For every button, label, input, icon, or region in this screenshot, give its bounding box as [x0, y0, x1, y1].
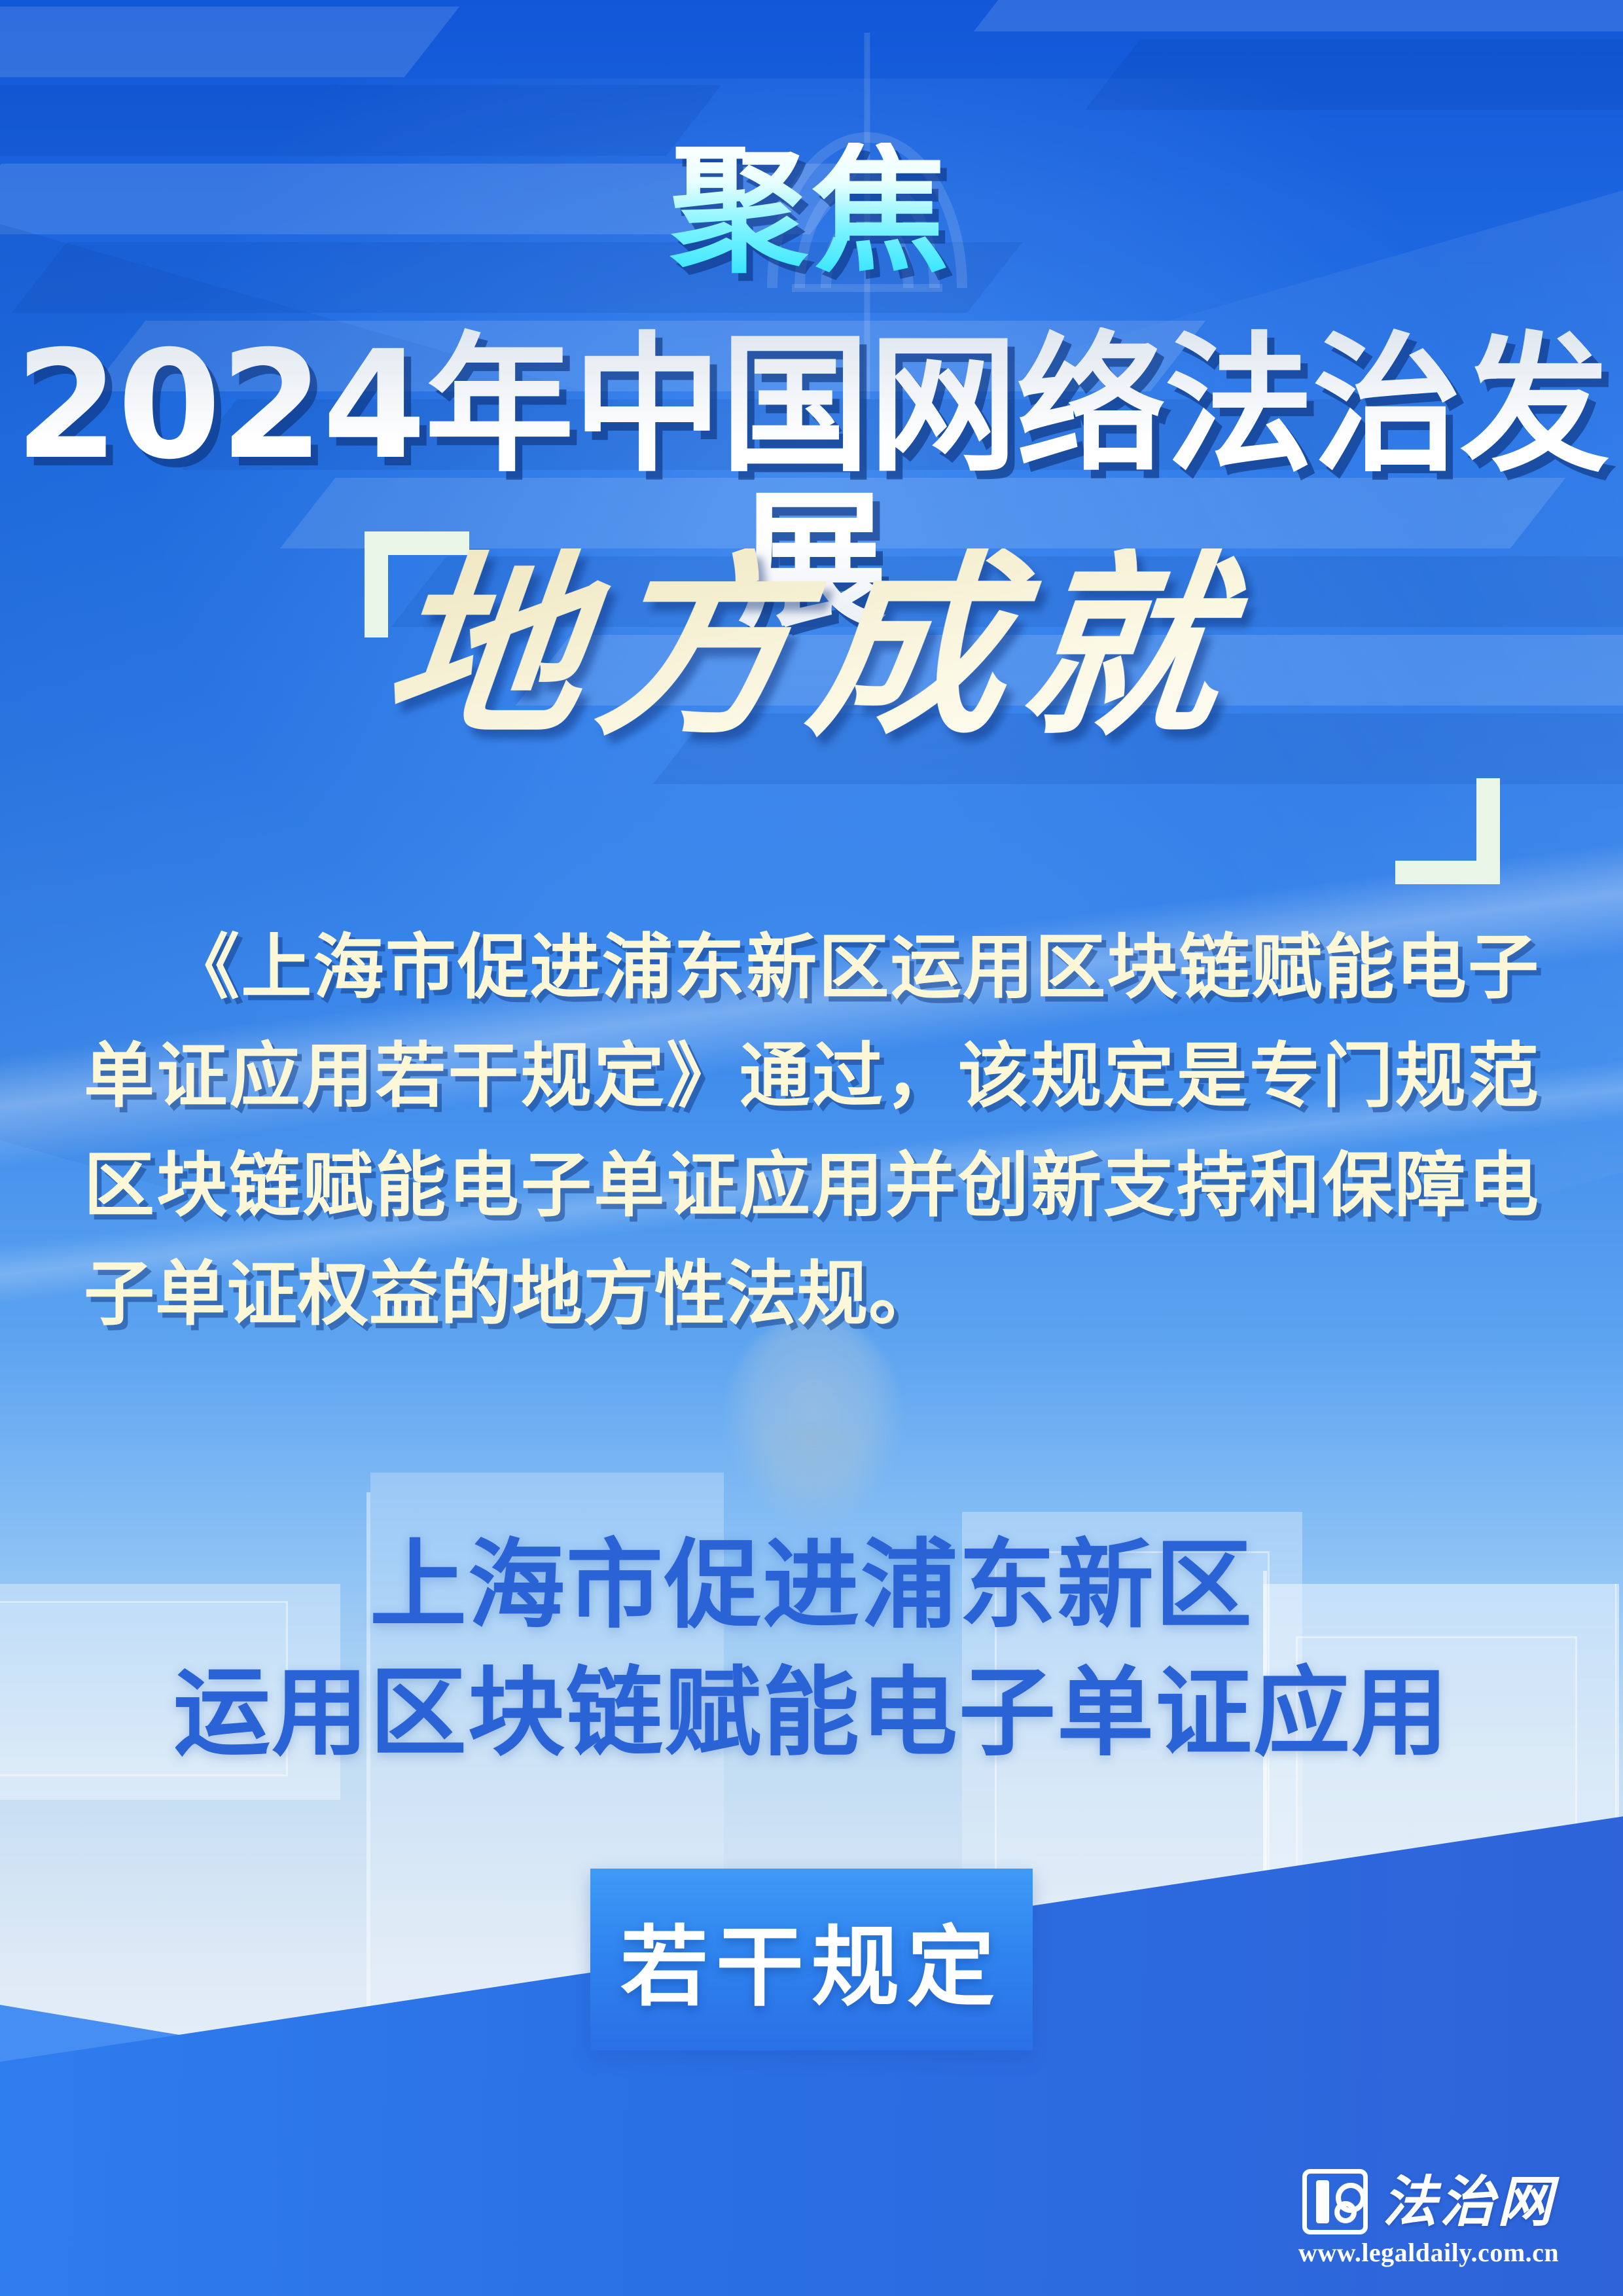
- seal-stamp-icon: [1302, 2169, 1368, 2234]
- calligraphy-headline: 地方成就: [0, 548, 1623, 745]
- sub-heading-line-1: 上海市促进浦东新区: [0, 1522, 1623, 1649]
- body-paragraph: 《上海市促进浦东新区运用区块链赋能电子单证应用若干规定》通过，该规定是专门规范区…: [84, 913, 1539, 1348]
- regulation-badge: 若干规定: [590, 1869, 1033, 2051]
- brand-url: www.legaldaily.com.cn: [1298, 2240, 1559, 2266]
- sub-heading: 上海市促进浦东新区 运用区块链赋能电子单证应用: [0, 1522, 1623, 1778]
- kicker-label: 聚焦: [0, 143, 1623, 280]
- corner-bracket-bottom-right-icon: [1395, 778, 1500, 884]
- regulation-badge-label: 若干规定: [620, 1896, 1003, 2023]
- footer-logo: 法治网 www.legaldaily.com.cn: [1275, 2168, 1582, 2266]
- sub-heading-line-2: 运用区块链赋能电子单证应用: [0, 1649, 1623, 1777]
- brand-name: 法治网: [1382, 2174, 1555, 2229]
